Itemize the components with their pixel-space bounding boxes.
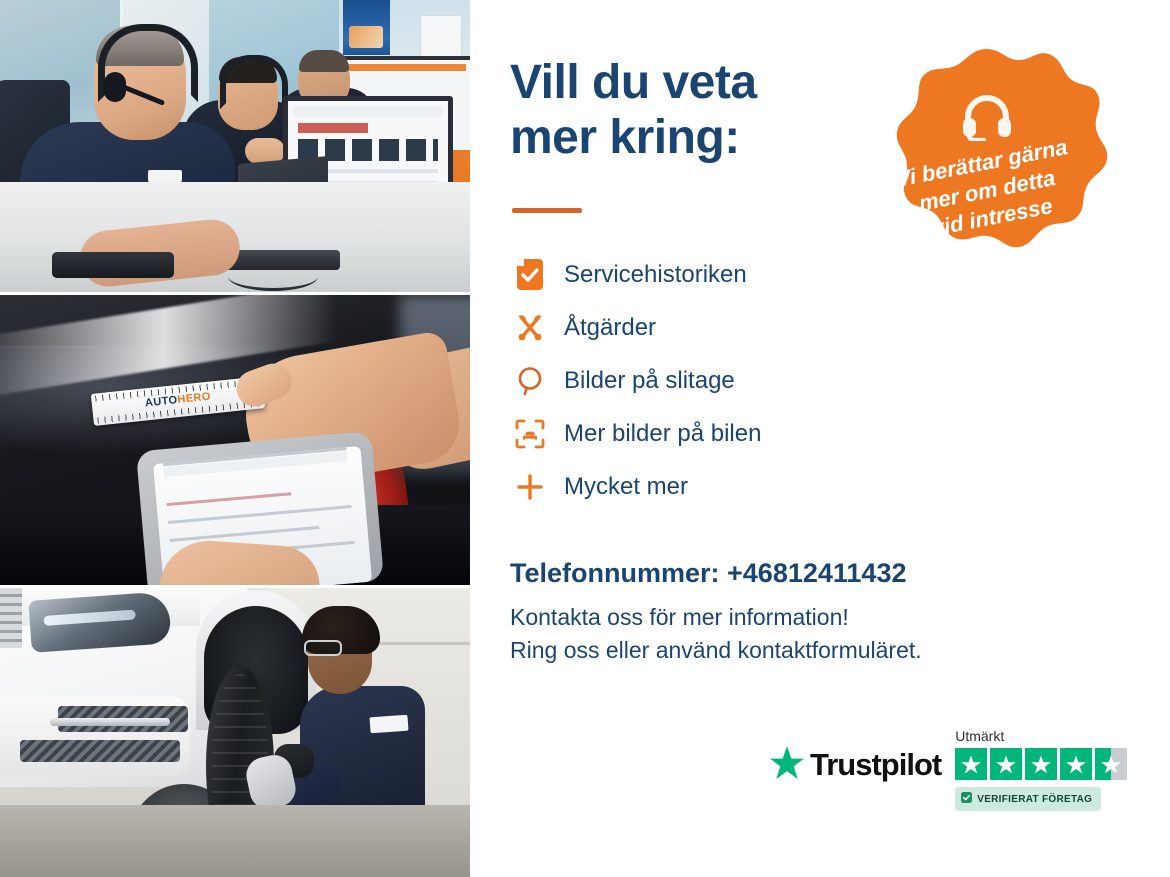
photo-call-center xyxy=(0,0,470,292)
trustpilot-widget[interactable]: Trustpilot Utmärkt xyxy=(770,728,1127,811)
photo3-floor xyxy=(0,805,470,877)
verified-company-badge: VERIFIERAT FÖRETAG xyxy=(955,787,1101,811)
page-title: Vill du veta mer kring: xyxy=(510,56,757,165)
star-filled xyxy=(1060,748,1092,780)
photo1-monitor-header xyxy=(293,106,443,117)
photo3-technician-logo-badge xyxy=(369,715,408,734)
star-filled xyxy=(955,748,987,780)
trustpilot-rating-group: Utmärkt xyxy=(955,728,1127,811)
feature-item-mer-bilder-pa-bilen: Mer bilder på bilen xyxy=(508,407,928,460)
trustpilot-stars xyxy=(955,748,1127,780)
star-half xyxy=(1095,748,1127,780)
feature-label: Bilder på slitage xyxy=(564,367,735,395)
contact-line-1: Kontakta oss för mer information! xyxy=(510,601,1070,634)
photo-tyre-service xyxy=(0,588,470,877)
feature-label: Mer bilder på bilen xyxy=(564,420,761,448)
plus-icon xyxy=(508,472,552,502)
photo1-agent2-headset xyxy=(220,55,288,109)
content-column: Vill du veta mer kring: Servicehistorike… xyxy=(470,0,1170,877)
trustpilot-star-icon xyxy=(770,746,804,784)
photo3-chrome-trim xyxy=(50,718,170,726)
contact-line-2: Ring oss eller använd kontaktformuläret. xyxy=(510,634,1070,667)
feature-item-bilder-pa-slitage: Bilder på slitage xyxy=(508,354,928,407)
photo3-technician-glasses xyxy=(304,640,342,656)
photo1-monitor-redbar xyxy=(298,123,368,133)
promo-page: AUTOHERO xyxy=(0,0,1170,877)
photo3-headlight xyxy=(28,591,171,653)
star-filled xyxy=(990,748,1022,780)
photo1-tablet xyxy=(52,252,174,278)
magnifier-icon xyxy=(508,366,552,396)
trustpilot-rating-label: Utmärkt xyxy=(955,728,1004,744)
feature-label: Åtgärder xyxy=(564,314,656,342)
trustpilot-wordmark: Trustpilot xyxy=(810,747,941,783)
photo3-grille xyxy=(0,588,22,648)
photo2-tablet-line xyxy=(167,492,292,506)
headset-icon xyxy=(960,93,1014,141)
feature-item-atgarder: Åtgärder xyxy=(508,301,928,354)
photo2-tablet-line xyxy=(170,526,319,542)
title-underline-rule xyxy=(512,208,582,213)
photo-column: AUTOHERO xyxy=(0,0,470,877)
photo1-wall-poster xyxy=(343,0,390,55)
contact-block: Telefonnummer: +46812411432 Kontakta oss… xyxy=(510,558,1070,666)
autohero-logo-hero: HERO xyxy=(177,391,211,406)
check-shield-icon xyxy=(961,790,972,808)
photo2-tablet-line xyxy=(168,505,352,524)
feature-item-mycket-mer: Mycket mer xyxy=(508,460,928,513)
trustpilot-logo: Trustpilot xyxy=(770,746,941,784)
car-scan-icon xyxy=(508,419,552,449)
feature-label: Mycket mer xyxy=(564,473,688,501)
photo1-notice-sheet xyxy=(420,15,462,59)
star-filled xyxy=(1025,748,1057,780)
photo1-cable xyxy=(228,262,318,291)
phone-number-line: Telefonnummer: +46812411432 xyxy=(510,558,1070,589)
feature-label: Servicehistoriken xyxy=(564,261,747,289)
document-check-icon xyxy=(508,259,552,290)
callout-badge: Vi berättar gärna mer om detta vid intre… xyxy=(865,45,1109,301)
photo-paint-inspection: AUTOHERO xyxy=(0,295,470,585)
wrench-screwdriver-icon xyxy=(508,313,552,343)
photo1-agent3-hair xyxy=(299,50,349,72)
photo3-bumper-vent-lower xyxy=(20,740,180,762)
autohero-logo-auto: AUTO xyxy=(144,394,178,409)
verified-company-label: VERIFIERAT FÖRETAG xyxy=(977,794,1092,805)
photo1-agent1-name-badge xyxy=(148,170,182,182)
